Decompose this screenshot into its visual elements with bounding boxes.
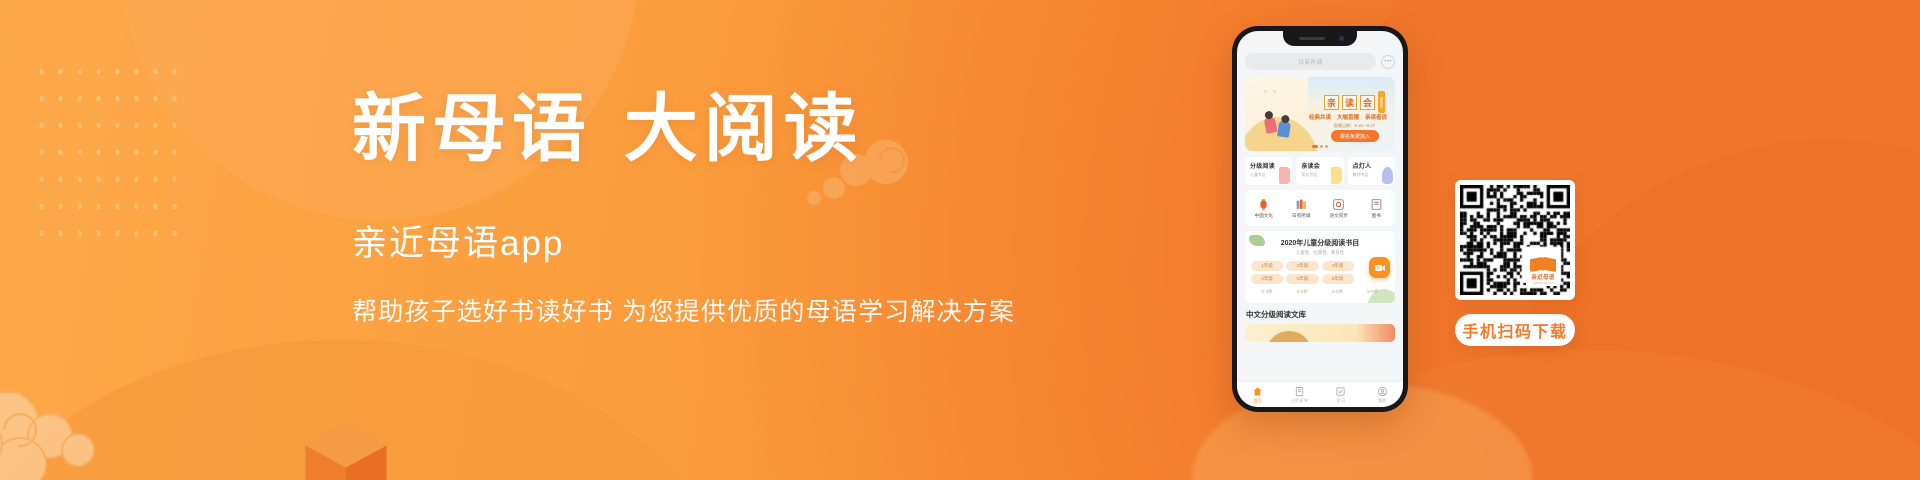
- qr-block: 亲近母语 QINJIN MUYU 手机扫码下载: [1455, 180, 1575, 346]
- phone-screen: 日有所诵 ••• ∿ ∿ 亲 读 会 春季班: [1237, 31, 1403, 407]
- banner-tagline: 帮助孩子选好书读好书 为您提供优质的母语学习解决方案: [352, 292, 1072, 328]
- quick-item-daily-recite[interactable]: 日有所诵: [1283, 198, 1321, 219]
- tab-home[interactable]: 首页: [1237, 386, 1279, 404]
- book-pink-icon: [1279, 167, 1290, 184]
- app-entry-row: 分级阅读 儿童专区 亲读会 家长专区 点灯人 教师专区: [1245, 157, 1395, 185]
- book-list-icon: [1370, 198, 1383, 211]
- app-tabbar: 首页 小步读书: [1237, 381, 1403, 407]
- quick-item-label: 中国文化: [1245, 213, 1283, 219]
- decor-cube-icon: [300, 418, 392, 480]
- age-pill[interactable]: 0-3岁: [1251, 287, 1283, 297]
- hero-subitem: 亲读者说: [1365, 113, 1387, 121]
- app-booklist-card[interactable]: 2020年儿童分级阅读书目 儿童性、经典性、教育性 1年级 2年级 3年级: [1245, 231, 1395, 303]
- library-card[interactable]: [1245, 324, 1395, 342]
- hero-child-right: [1277, 120, 1291, 138]
- app-content: 日有所诵 ••• ∿ ∿ 亲 读 会 春季班: [1237, 31, 1403, 342]
- grade-pill[interactable]: 3年级: [1322, 261, 1354, 271]
- book-logo-icon: [1530, 257, 1556, 272]
- phone-camera-icon: [1339, 36, 1344, 41]
- hero-carousel-dots[interactable]: [1312, 145, 1328, 148]
- app-quick-icon-row: 中国文化 日有所诵: [1245, 190, 1395, 226]
- check-square-icon: [1335, 386, 1346, 397]
- list-icon: [1294, 386, 1305, 397]
- grade-pill[interactable]: 5年级: [1286, 274, 1318, 284]
- qr-logo-sub: QINJIN MUYU: [1533, 282, 1552, 285]
- download-button[interactable]: 手机扫码下载: [1455, 314, 1575, 346]
- hero-title: 亲 读 会 春季班: [1324, 91, 1385, 113]
- search-input[interactable]: 日有所诵: [1245, 53, 1376, 70]
- booklist-sub: 儿童性、经典性、教育性: [1251, 250, 1389, 256]
- promo-banner: 新母语 大阅读 亲近母语app 帮助孩子选好书读好书 为您提供优质的母语学习解决…: [0, 0, 1920, 480]
- user-circle-icon: [1377, 386, 1388, 397]
- person-purple-icon: [1382, 167, 1393, 184]
- hero-title-char: 读: [1342, 95, 1357, 110]
- grade-pill[interactable]: 4年级: [1251, 274, 1283, 284]
- app-search-bar: 日有所诵 •••: [1245, 53, 1395, 70]
- copy-block: 新母语 大阅读 亲近母语app 帮助孩子选好书读好书 为您提供优质的母语学习解决…: [352, 88, 1072, 328]
- phone-notch: [1283, 31, 1357, 46]
- qr-logo-title: 亲近母语: [1531, 273, 1554, 281]
- quick-item-chinese-culture[interactable]: 中国文化: [1245, 198, 1283, 219]
- carousel-dot[interactable]: [1312, 145, 1318, 148]
- hero-subitems: 经典共读 大咖直播 亲读者说: [1309, 113, 1387, 121]
- hero-title-char: 会: [1360, 95, 1375, 110]
- phone-mockup: 日有所诵 ••• ∿ ∿ 亲 读 会 春季班: [1232, 26, 1408, 412]
- quick-item-label: 日有所诵: [1283, 213, 1321, 219]
- entry-card-parent-club[interactable]: 亲读会 家长专区: [1296, 157, 1343, 185]
- library-title: 中文分级阅读文库: [1245, 309, 1395, 320]
- more-dots-icon[interactable]: •••: [1381, 55, 1395, 69]
- quick-item-label: 语文同步: [1320, 213, 1358, 219]
- banner-subtitle: 亲近母语app: [352, 215, 1072, 266]
- books-icon: [1295, 198, 1308, 211]
- video-play-icon[interactable]: [1369, 257, 1390, 278]
- carousel-dot[interactable]: [1325, 145, 1328, 148]
- age-pill[interactable]: 4-5岁: [1322, 287, 1354, 297]
- quick-item-textbook-sync[interactable]: 语文同步: [1320, 198, 1358, 219]
- tab-mine[interactable]: 我的: [1362, 386, 1404, 404]
- booklist-title: 2020年儿童分级阅读书目: [1251, 238, 1389, 248]
- square-sync-icon: [1332, 198, 1345, 211]
- phone-speaker: [1299, 37, 1325, 40]
- decor-dot-grid: [32, 58, 180, 254]
- hero-signup-button[interactable]: 报名免费加入: [1331, 130, 1379, 142]
- entry-card-graded-reading[interactable]: 分级阅读 儿童专区: [1245, 157, 1292, 185]
- qr-center-logo: 亲近母语 QINJIN MUYU: [1526, 256, 1560, 286]
- tab-label: 小步读书: [1279, 398, 1321, 404]
- grade-pill[interactable]: 2年级: [1286, 261, 1318, 271]
- hero-birds-icon: ∿ ∿: [1263, 89, 1279, 95]
- tab-label: 我的: [1362, 398, 1404, 404]
- hero-subitem: 经典共读: [1309, 113, 1331, 121]
- lantern-icon: [1257, 198, 1270, 211]
- carousel-dot[interactable]: [1320, 145, 1323, 148]
- tab-reading[interactable]: 小步读书: [1279, 386, 1321, 404]
- quick-item-label: 图书: [1358, 213, 1396, 219]
- app-hero-card[interactable]: ∿ ∿ 亲 读 会 春季班 经典共读 大咖直播 亲读者说 直播日期：9.1: [1245, 77, 1395, 151]
- home-icon: [1252, 386, 1263, 397]
- hero-subitem: 大咖直播: [1337, 113, 1359, 121]
- hero-title-char: 亲: [1324, 95, 1339, 110]
- age-pill[interactable]: 5-6岁: [1357, 287, 1389, 297]
- decor-hill-left: [0, 340, 720, 480]
- quick-item-books[interactable]: 图书: [1358, 198, 1396, 219]
- tab-study[interactable]: 学习: [1320, 386, 1362, 404]
- qr-code-card[interactable]: 亲近母语 QINJIN MUYU: [1455, 180, 1575, 300]
- hero-ribbon: 春季班: [1378, 91, 1385, 113]
- grade-pill[interactable]: 1年级: [1251, 261, 1283, 271]
- hero-date: 直播日期：9.16—9.27: [1334, 123, 1375, 129]
- tab-label: 学习: [1320, 398, 1362, 404]
- tab-label: 首页: [1237, 398, 1279, 404]
- decor-cloud-icon-left: [0, 378, 134, 480]
- leaf-decor-icon: [1249, 235, 1265, 246]
- age-pill[interactable]: 3-4岁: [1286, 287, 1318, 297]
- grade-pill[interactable]: 6年级: [1322, 274, 1354, 284]
- entry-card-teacher[interactable]: 点灯人 教师专区: [1348, 157, 1395, 185]
- book-yellow-icon: [1331, 167, 1342, 184]
- banner-headline: 新母语 大阅读: [352, 88, 1072, 171]
